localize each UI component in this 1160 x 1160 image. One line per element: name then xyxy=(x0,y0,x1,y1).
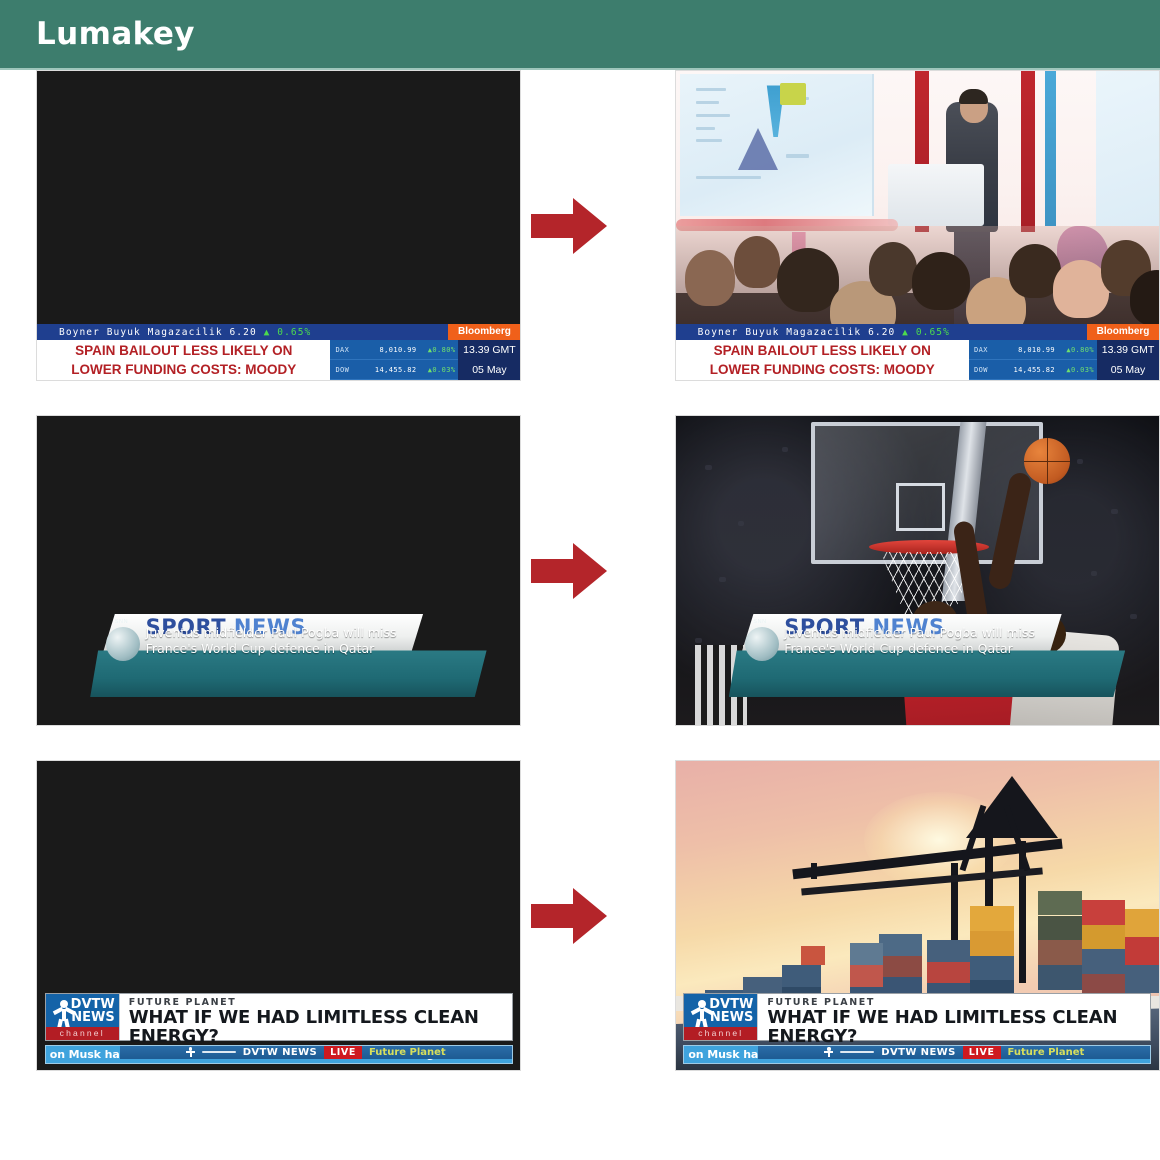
dvtw-kicker: FUTURE PLANET xyxy=(758,994,1150,1008)
dvtw-logo: DVTW NEWS channel xyxy=(46,994,120,1040)
sport-line-1: Juventus midfielder Paul Pogba will miss xyxy=(146,625,397,641)
sport-line-2: France's World Cup defence in Qatar xyxy=(784,641,1035,657)
arrow-cell-1 xyxy=(521,70,615,381)
sport-body-plate xyxy=(90,650,486,697)
bloomberg-lower-third: Boyner Buyuk Magazacilik 6.20 ▲ 0.65% Bl… xyxy=(37,324,520,380)
bloomberg-time-block: 13.39 GMT 05 May xyxy=(458,340,520,380)
dvtw-logo-text: DVTW NEWS xyxy=(71,998,115,1024)
index-row: DOW 14,455.82 ▲0.03% xyxy=(330,360,458,380)
headline-line-1: SPAIN BAILOUT LESS LIKELY ON xyxy=(676,341,969,360)
index-value: 14,455.82 xyxy=(999,366,1055,374)
dvtw-logo: DVTW NEWS channel xyxy=(684,994,758,1040)
person-icon-small xyxy=(824,1047,833,1057)
bloomberg-ticker-bar: Boyner Buyuk Magazacilik 6.20 ▲ 0.65% Bl… xyxy=(676,324,1159,340)
headline-line-2: LOWER FUNDING COSTS: MOODY xyxy=(676,360,969,379)
sport-body-text: Juventus midfielder Paul Pogba will miss… xyxy=(784,625,1035,657)
audience xyxy=(676,226,1159,328)
ticker-change: 0.65% xyxy=(277,327,311,338)
bloomberg-brand-badge: Bloomberg xyxy=(448,324,520,340)
row-bloomberg-input-panel[interactable]: Boyner Buyuk Magazacilik 6.20 ▲ 0.65% Bl… xyxy=(36,70,521,381)
dvtw-content: FUTURE PLANET WHAT IF WE HAD LIMITLESS C… xyxy=(758,994,1150,1040)
row-dvtw-input-panel[interactable]: DVTW NEWS channel FUTURE PLANET WHAT IF … xyxy=(36,760,521,1071)
dvtw-kicker: FUTURE PLANET xyxy=(120,994,512,1008)
bloomberg-body: SPAIN BAILOUT LESS LIKELY ON LOWER FUNDI… xyxy=(676,340,1159,380)
dvtw-logo-line-1: DVTW xyxy=(71,998,115,1011)
sport-logo-text: SNN xyxy=(753,619,766,625)
sport-line-1: Juventus midfielder Paul Pogba will miss xyxy=(784,625,1035,641)
row-sport: SPORT NEWS SNN Juventus midfielder Paul … xyxy=(0,415,1160,760)
dvtw-strip-brand: DVTW NEWS xyxy=(243,1047,317,1058)
sport-body-text: Juventus midfielder Paul Pogba will miss… xyxy=(146,625,397,657)
app-header: Lumakey xyxy=(0,0,1160,70)
index-value: 8,010.99 xyxy=(999,346,1055,354)
row-dvtw: DVTW NEWS channel FUTURE PLANET WHAT IF … xyxy=(0,760,1160,1105)
bloomberg-ticker-text: Boyner Buyuk Magazacilik 6.20 ▲ 0.65% xyxy=(37,327,448,338)
date-label: 05 May xyxy=(1097,360,1159,380)
sport-line-2: France's World Cup defence in Qatar xyxy=(146,641,397,657)
row-bloomberg-output-panel[interactable]: Boyner Buyuk Magazacilik 6.20 ▲ 0.65% Bl… xyxy=(675,70,1160,381)
bloomberg-body: SPAIN BAILOUT LESS LIKELY ON LOWER FUNDI… xyxy=(37,340,520,380)
process-arrow-icon xyxy=(531,543,607,599)
row-sport-output-panel[interactable]: LAUDERDALE 52 23 SPORT NEWS SNN Juventus… xyxy=(675,415,1160,726)
sport-logo-text: SNN xyxy=(115,619,128,625)
arrow-cell-3 xyxy=(521,760,615,1071)
basketball xyxy=(1024,438,1070,484)
comparison-rows: Boyner Buyuk Magazacilik 6.20 ▲ 0.65% Bl… xyxy=(0,70,1160,1105)
dvtw-strip: DVTW NEWS LIVE Future Planet xyxy=(120,1046,512,1059)
index-value: 8,010.99 xyxy=(360,346,416,354)
dvtw-main-bar: DVTW NEWS channel FUTURE PLANET WHAT IF … xyxy=(45,993,513,1041)
bloomberg-brand-badge: Bloomberg xyxy=(1087,324,1159,340)
bloomberg-time-block: 13.39 GMT 05 May xyxy=(1097,340,1159,380)
headline-line-1: SPAIN BAILOUT LESS LIKELY ON xyxy=(37,341,330,360)
person-icon-small xyxy=(186,1047,195,1057)
dvtw-main-bar: DVTW NEWS channel FUTURE PLANET WHAT IF … xyxy=(683,993,1151,1041)
swoosh-icon xyxy=(202,1051,236,1053)
globe-icon xyxy=(106,627,140,661)
index-row: DAX 8,010.99 ▲0.80% xyxy=(969,340,1097,360)
dvtw-headline: WHAT IF WE HAD LIMITLESS CLEAN ENERGY? xyxy=(120,1008,512,1046)
app-title: Lumakey xyxy=(36,16,195,52)
live-badge: LIVE xyxy=(324,1046,362,1059)
index-change: ▲0.03% xyxy=(1055,366,1097,374)
row-dvtw-output-panel[interactable]: DVTW NEWS channel FUTURE PLANET WHAT IF … xyxy=(675,760,1160,1071)
presentation-slide xyxy=(680,74,873,216)
row-sport-input-panel[interactable]: SPORT NEWS SNN Juventus midfielder Paul … xyxy=(36,415,521,726)
dvtw-strip-section: Future Planet xyxy=(1008,1047,1085,1058)
dvtw-lower-third: DVTW NEWS channel FUTURE PLANET WHAT IF … xyxy=(683,993,1151,1064)
ticker-symbol: Boyner Buyuk Magazacilik 6.20 xyxy=(59,327,257,338)
index-name: DOW xyxy=(969,366,999,374)
bloomberg-headline: SPAIN BAILOUT LESS LIKELY ON LOWER FUNDI… xyxy=(676,340,969,380)
time-label: 13.39 GMT xyxy=(1097,340,1159,360)
sport-body-plate xyxy=(729,650,1125,697)
dvtw-logo-line-1: DVTW xyxy=(709,998,753,1011)
index-change: ▲0.80% xyxy=(416,346,458,354)
process-arrow-icon xyxy=(531,198,607,254)
index-name: DOW xyxy=(330,366,360,374)
date-label: 05 May xyxy=(458,360,520,380)
dvtw-content: FUTURE PLANET WHAT IF WE HAD LIMITLESS C… xyxy=(120,994,512,1040)
ticker-change: 0.65% xyxy=(916,327,950,338)
index-value: 14,455.82 xyxy=(360,366,416,374)
ticker-symbol: Boyner Buyuk Magazacilik 6.20 xyxy=(698,327,896,338)
index-change: ▲0.03% xyxy=(416,366,458,374)
headline-line-2: LOWER FUNDING COSTS: MOODY xyxy=(37,360,330,379)
dvtw-lower-third: DVTW NEWS channel FUTURE PLANET WHAT IF … xyxy=(45,993,513,1064)
index-name: DAX xyxy=(330,346,360,354)
live-badge: LIVE xyxy=(963,1046,1001,1059)
sport-lower-third: SPORT NEWS SNN Juventus midfielder Paul … xyxy=(729,614,1125,697)
globe-icon xyxy=(745,627,779,661)
dvtw-strip: DVTW NEWS LIVE Future Planet xyxy=(758,1046,1150,1059)
dvtw-headline: WHAT IF WE HAD LIMITLESS CLEAN ENERGY? xyxy=(758,1008,1150,1046)
index-row: DOW 14,455.82 ▲0.03% xyxy=(969,360,1097,380)
dvtw-logo-text: DVTW NEWS xyxy=(709,998,753,1024)
arrow-cell-2 xyxy=(521,415,615,726)
bloomberg-index-table: DAX 8,010.99 ▲0.80% DOW 14,455.82 ▲0.03% xyxy=(969,340,1097,380)
dvtw-channel-label: channel xyxy=(46,1027,119,1040)
bloomberg-index-table: DAX 8,010.99 ▲0.80% DOW 14,455.82 ▲0.03% xyxy=(330,340,458,380)
bloomberg-headline: SPAIN BAILOUT LESS LIKELY ON LOWER FUNDI… xyxy=(37,340,330,380)
ticker-up-arrow: ▲ xyxy=(264,327,271,338)
dvtw-logo-line-2: NEWS xyxy=(709,1011,753,1024)
swoosh-icon xyxy=(840,1051,874,1053)
dvtw-strip-section: Future Planet xyxy=(369,1047,446,1058)
row-bloomberg: Boyner Buyuk Magazacilik 6.20 ▲ 0.65% Bl… xyxy=(0,70,1160,415)
ticker-up-arrow: ▲ xyxy=(902,327,909,338)
process-arrow-icon xyxy=(531,888,607,944)
sport-lower-third: SPORT NEWS SNN Juventus midfielder Paul … xyxy=(90,614,486,697)
dvtw-logo-line-2: NEWS xyxy=(71,1011,115,1024)
bloomberg-ticker-bar: Boyner Buyuk Magazacilik 6.20 ▲ 0.65% Bl… xyxy=(37,324,520,340)
dvtw-channel-label: channel xyxy=(684,1027,757,1040)
index-row: DAX 8,010.99 ▲0.80% xyxy=(330,340,458,360)
bloomberg-lower-third: Boyner Buyuk Magazacilik 6.20 ▲ 0.65% Bl… xyxy=(676,324,1159,380)
index-name: DAX xyxy=(969,346,999,354)
time-label: 13.39 GMT xyxy=(458,340,520,360)
index-change: ▲0.80% xyxy=(1055,346,1097,354)
bloomberg-ticker-text: Boyner Buyuk Magazacilik 6.20 ▲ 0.65% xyxy=(676,327,1087,338)
dvtw-strip-brand: DVTW NEWS xyxy=(881,1047,955,1058)
